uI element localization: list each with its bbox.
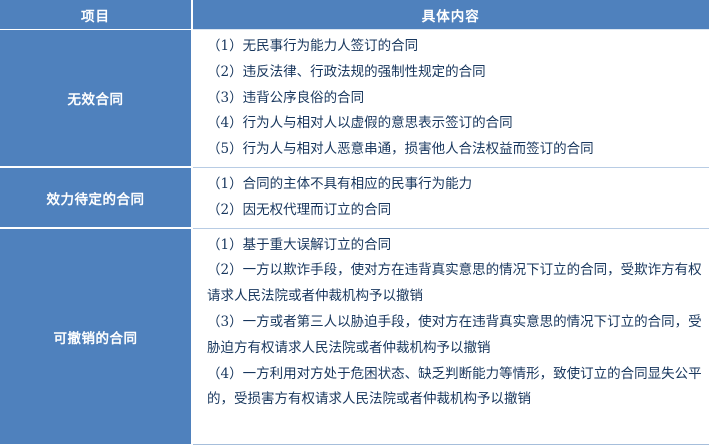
list-item: （2）一方以欺诈手段，使对方在违背真实意思的情况下订立的合同，受欺诈方有权请求人… bbox=[201, 258, 703, 310]
table-row: 无效合同 （1）无民事行为能力人签订的合同 （2）违反法律、行政法规的强制性规定… bbox=[0, 30, 709, 168]
column-header-content: 具体内容 bbox=[192, 0, 709, 30]
table-body: 无效合同 （1）无民事行为能力人签订的合同 （2）违反法律、行政法规的强制性规定… bbox=[0, 30, 709, 445]
row-label-invalid-contract: 无效合同 bbox=[0, 30, 192, 168]
column-header-item: 项目 bbox=[0, 0, 192, 30]
list-item: （1）基于重大误解订立的合同 bbox=[201, 233, 703, 259]
list-item: （2）违反法律、行政法规的强制性规定的合同 bbox=[201, 60, 703, 86]
contract-validity-table: 项目 具体内容 无效合同 （1）无民事行为能力人签订的合同 （2）违反法律、行政… bbox=[0, 0, 709, 445]
list-item: （5）行为人与相对人恶意串通，损害他人合法权益而签订的合同 bbox=[201, 137, 703, 163]
list-item: （1）无民事行为能力人签订的合同 bbox=[201, 34, 703, 60]
list-item: （2）因无权代理而订立的合同 bbox=[201, 198, 703, 224]
row-label-pending-validity-contract: 效力待定的合同 bbox=[0, 167, 192, 228]
row-content-revocable-contract: （1）基于重大误解订立的合同 （2）一方以欺诈手段，使对方在违背真实意思的情况下… bbox=[192, 228, 709, 444]
table-row: 可撤销的合同 （1）基于重大误解订立的合同 （2）一方以欺诈手段，使对方在违背真… bbox=[0, 228, 709, 444]
table-row: 效力待定的合同 （1）合同的主体不具有相应的民事行为能力 （2）因无权代理而订立… bbox=[0, 167, 709, 228]
list-item: （4）行为人与相对人以虚假的意思表示签订的合同 bbox=[201, 111, 703, 137]
table-header-row: 项目 具体内容 bbox=[0, 0, 709, 30]
row-content-invalid-contract: （1）无民事行为能力人签订的合同 （2）违反法律、行政法规的强制性规定的合同 （… bbox=[192, 30, 709, 168]
table-header: 项目 具体内容 bbox=[0, 0, 709, 30]
row-content-pending-validity-contract: （1）合同的主体不具有相应的民事行为能力 （2）因无权代理而订立的合同 bbox=[192, 167, 709, 228]
list-item: （3）违背公序良俗的合同 bbox=[201, 86, 703, 112]
list-item: （3）一方或者第三人以胁迫手段，使对方在违背真实意思的情况下订立的合同，受胁迫方… bbox=[201, 310, 703, 362]
list-item: （1）合同的主体不具有相应的民事行为能力 bbox=[201, 172, 703, 198]
list-item: （4）一方利用对方处于危困状态、缺乏判断能力等情形，致使订立的合同显失公平的，受… bbox=[201, 362, 703, 414]
row-label-revocable-contract: 可撤销的合同 bbox=[0, 228, 192, 444]
